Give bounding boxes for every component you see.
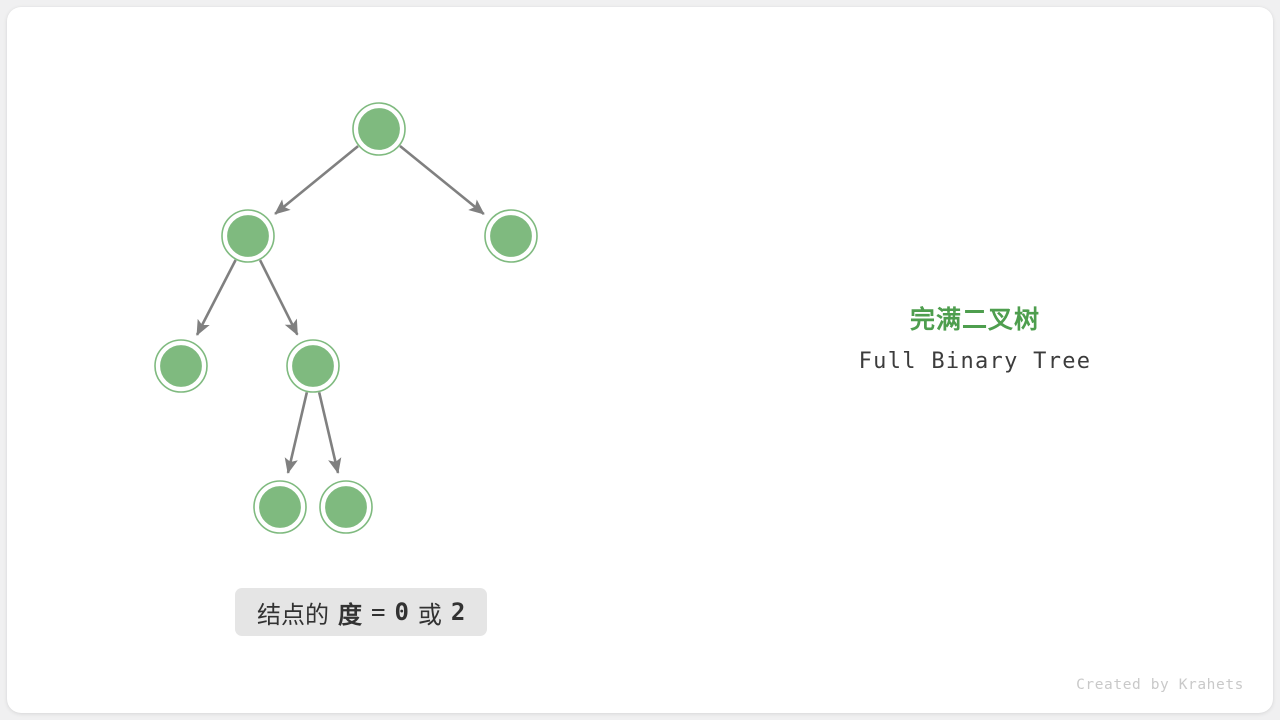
tree-node bbox=[287, 340, 339, 392]
title-english: Full Binary Tree bbox=[775, 349, 1175, 374]
tree-edge bbox=[275, 146, 358, 214]
tree-node bbox=[320, 481, 372, 533]
tree-node-circle bbox=[357, 107, 401, 151]
tree-edge bbox=[260, 260, 297, 335]
title-chinese: 完满二叉树 bbox=[775, 300, 1175, 336]
tree-node-circle bbox=[324, 485, 368, 529]
tree-edge bbox=[197, 260, 236, 335]
tree-edge bbox=[400, 146, 484, 214]
tree-node bbox=[353, 103, 405, 155]
tree-node-circle bbox=[489, 214, 533, 258]
screenshot-root: 完满二叉树 Full Binary Tree 结点的度=0或2 Created … bbox=[0, 0, 1280, 720]
tree-node bbox=[485, 210, 537, 262]
tree-edges bbox=[197, 146, 484, 473]
degree-label-part-4: 或 bbox=[418, 595, 442, 630]
tree-nodes bbox=[155, 103, 537, 533]
degree-label-part-2: = bbox=[371, 598, 385, 626]
tree-edge bbox=[288, 392, 307, 473]
watermark-credit: Created by Krahets bbox=[1076, 677, 1244, 693]
degree-label-part-1: 度 bbox=[338, 595, 362, 630]
tree-node-circle bbox=[258, 485, 302, 529]
degree-label-box: 结点的度=0或2 bbox=[235, 588, 487, 636]
degree-label-part-5: 2 bbox=[451, 598, 465, 626]
tree-edge bbox=[319, 392, 338, 473]
degree-label-part-0: 结点的 bbox=[257, 595, 329, 630]
tree-node bbox=[155, 340, 207, 392]
tree-node bbox=[222, 210, 274, 262]
tree-node-circle bbox=[159, 344, 203, 388]
tree-node-circle bbox=[291, 344, 335, 388]
tree-node-circle bbox=[226, 214, 270, 258]
degree-label-part-3: 0 bbox=[394, 598, 408, 626]
diagram-card: 完满二叉树 Full Binary Tree 结点的度=0或2 Created … bbox=[7, 7, 1273, 713]
tree-node bbox=[254, 481, 306, 533]
